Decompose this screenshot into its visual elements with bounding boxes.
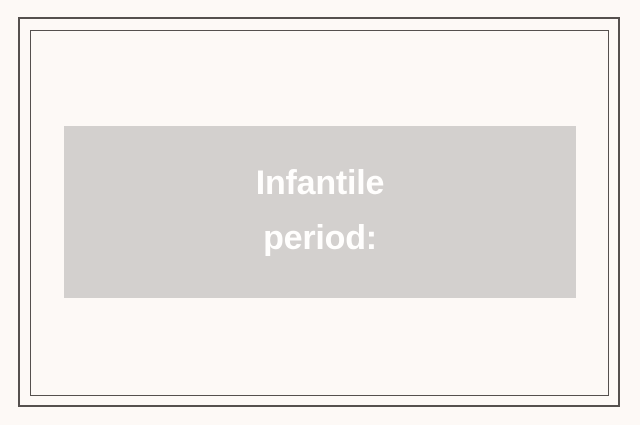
content-placeholder-block: Infantile period: bbox=[64, 126, 576, 298]
content-heading: Infantile period: bbox=[225, 156, 415, 268]
slide-canvas: Infantile period: bbox=[0, 0, 640, 425]
